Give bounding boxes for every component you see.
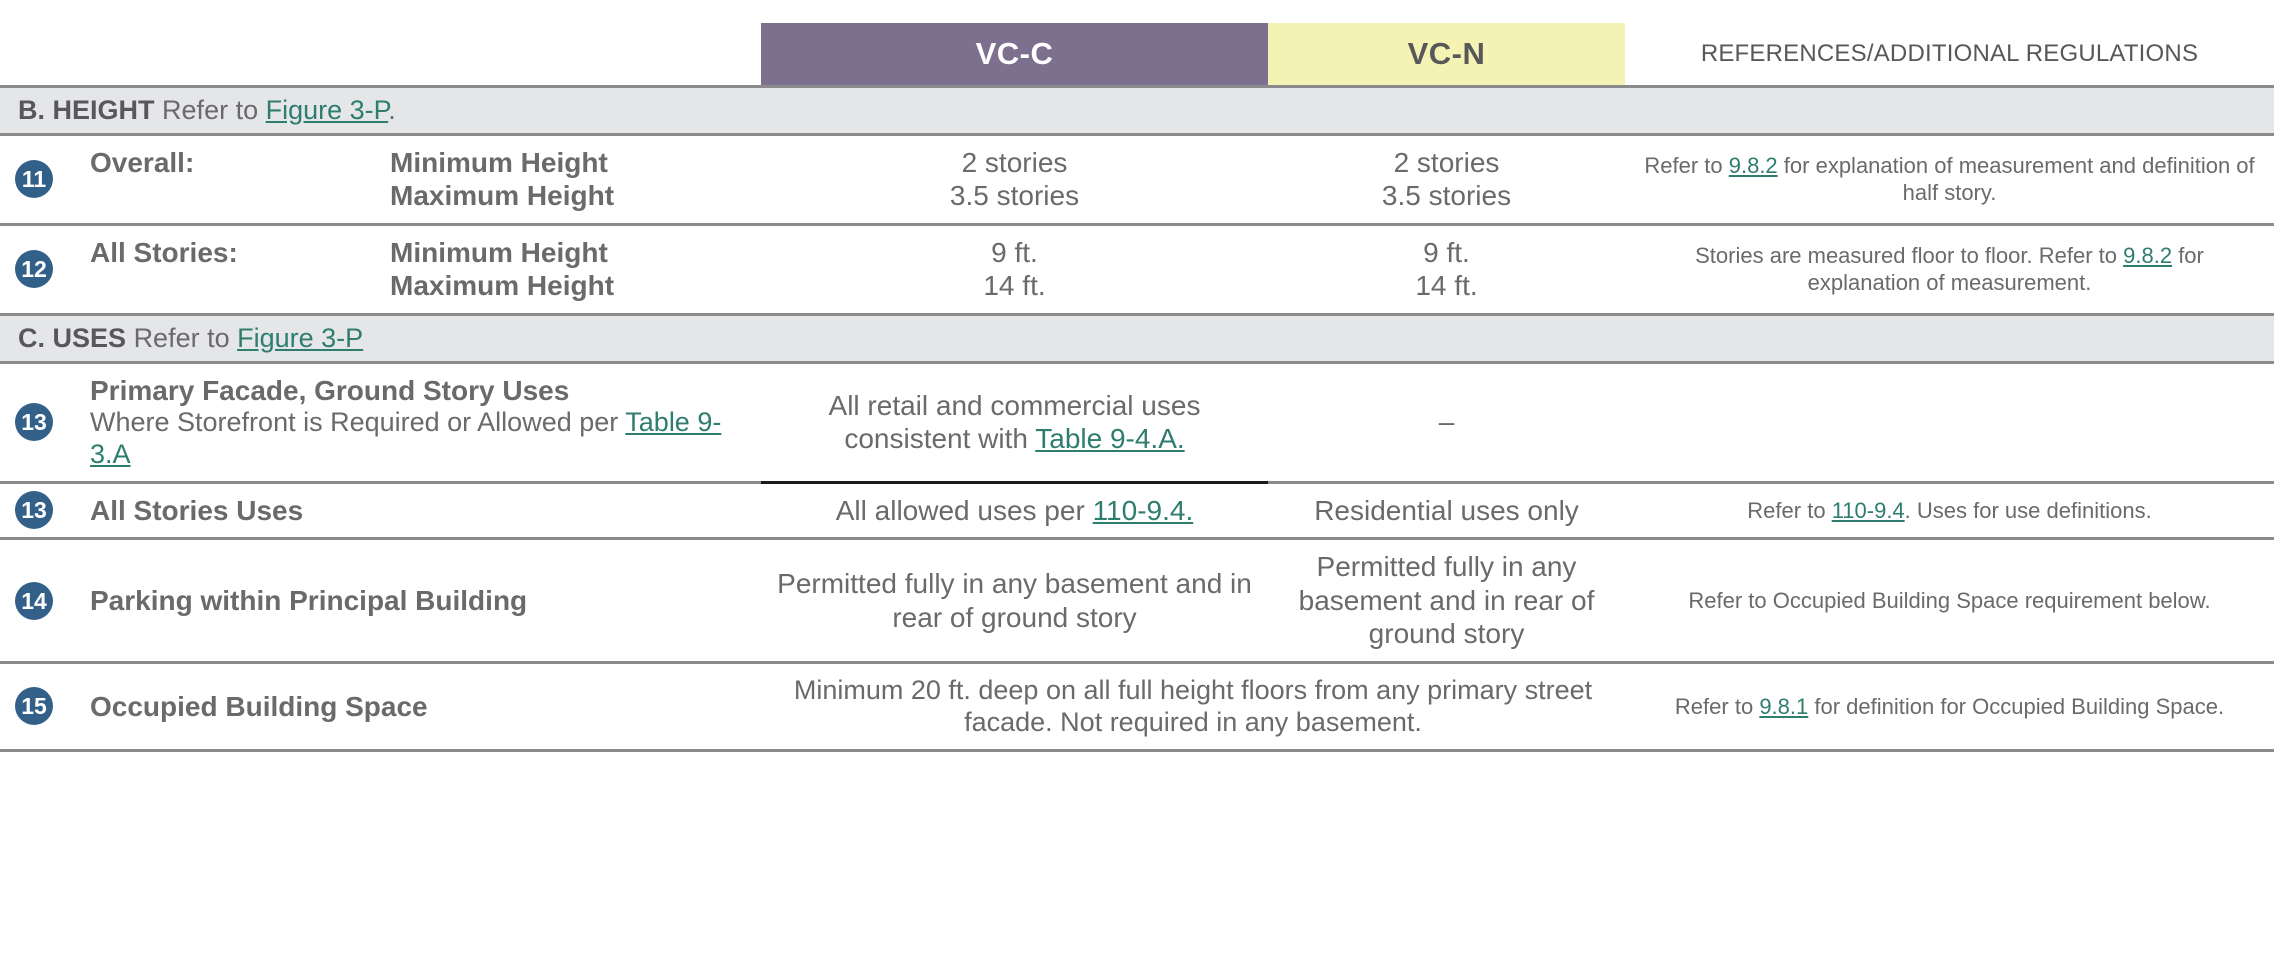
column-header-vcn: VC-N [1268, 0, 1625, 86]
reference-overall: Refer to 9.8.2 for explanation of measur… [1625, 134, 2274, 224]
reference-link-110-94[interactable]: 110-9.4 [1832, 498, 1905, 523]
row-badge-12: 12 [0, 224, 68, 314]
value-merged-occupied-building-space: Minimum 20 ft. deep on all full height f… [761, 663, 1625, 751]
row-badge-13-all-stories-uses: 13 [0, 482, 68, 539]
reference-link-982[interactable]: 9.8.2 [2123, 243, 2172, 268]
reference-all-stories-uses: Refer to 110-9.4. Uses for use definitio… [1625, 482, 2274, 539]
section-title: USES [53, 323, 127, 353]
row-label-all-stories-uses: All Stories Uses [68, 482, 761, 539]
value-vcc-maximum: 14 ft. [769, 269, 1260, 303]
row-label-primary-facade: Primary Facade, Ground Story Uses Where … [68, 362, 761, 482]
column-header-references-label: REFERENCES/ADDITIONAL REGULATIONS [1625, 23, 2274, 85]
row-label-text: All Stories Uses [90, 494, 761, 527]
table-row-occupied-building-space: 15 Occupied Building Space Minimum 20 ft… [0, 663, 2274, 751]
row-label-overall: Overall: Minimum Height Maximum Height [68, 134, 761, 224]
row-label-parking: Parking within Principal Building [68, 539, 761, 663]
header-spacer-badge [0, 0, 68, 86]
section-header-height-cell: B. HEIGHT Refer to Figure 3-P. [0, 86, 2274, 134]
table-row-overall: 11 Overall: Minimum Height Maximum Heigh… [0, 134, 2274, 224]
value-vcc-link-table-9-4a[interactable]: Table 9-4.A. [1035, 423, 1184, 454]
reference-suffix: for definition for Occupied Building Spa… [1814, 694, 2224, 719]
value-vcn-dash: – [1439, 406, 1455, 437]
value-vcn-maximum: 14 ft. [1276, 269, 1617, 303]
value-vcc-overall: 2 stories 3.5 stories [761, 134, 1268, 224]
value-vcn-all-stories-uses: Residential uses only [1268, 482, 1625, 539]
row-sublabel-maximum-height: Maximum Height [390, 179, 761, 212]
value-vcn-primary-facade: – [1268, 362, 1625, 482]
section-refer-text: Refer to [162, 95, 258, 125]
reference-primary-facade [1625, 362, 2274, 482]
value-vcc-all-stories-uses: All allowed uses per 110-9.4. [761, 482, 1268, 539]
reference-suffix: . Uses for use definitions. [1905, 498, 2152, 523]
column-header-vcc-label: VC-C [761, 23, 1268, 85]
reference-parking: Refer to Occupied Building Space require… [1625, 539, 2274, 663]
row-label-all-stories: All Stories: Minimum Height Maximum Heig… [68, 224, 761, 314]
row-sublabel-minimum-height: Minimum Height [390, 146, 761, 179]
value-vcc-parking: Permitted fully in any basement and in r… [761, 539, 1268, 663]
value-vcc-prefix: All allowed uses per [836, 495, 1085, 526]
table-row-all-stories-uses: 13 All Stories Uses All allowed uses per… [0, 482, 2274, 539]
value-vcc-link-110-94[interactable]: 110-9.4. [1093, 495, 1194, 526]
row-sublabel-minimum-height: Minimum Height [390, 236, 761, 269]
reference-occupied-building-space: Refer to 9.8.1 for definition for Occupi… [1625, 663, 2274, 751]
reference-prefix: Refer to [1675, 694, 1753, 719]
section-title: HEIGHT [53, 95, 155, 125]
row-number-badge: 13 [15, 491, 53, 529]
column-header-vcn-label: VC-N [1268, 23, 1625, 85]
row-badge-14: 14 [0, 539, 68, 663]
zoning-standards-table: VC-C VC-N REFERENCES/ADDITIONAL REGULATI… [0, 0, 2274, 973]
row-badge-13-primary-facade: 13 [0, 362, 68, 482]
row-badge-15: 15 [0, 663, 68, 751]
value-vcc-all-stories: 9 ft. 14 ft. [761, 224, 1268, 314]
value-vcc-minimum: 2 stories [769, 146, 1260, 180]
section-letter: B. [18, 95, 45, 125]
reference-prefix: Refer to [1747, 498, 1825, 523]
row-number-badge: 12 [15, 250, 53, 288]
column-header-references: REFERENCES/ADDITIONAL REGULATIONS [1625, 0, 2274, 86]
section-header-uses: C. USES Refer to Figure 3-P [0, 314, 2274, 362]
table-header-row: VC-C VC-N REFERENCES/ADDITIONAL REGULATI… [0, 0, 2274, 86]
reference-prefix: Refer to [1644, 153, 1722, 178]
reference-link-981[interactable]: 9.8.1 [1759, 694, 1808, 719]
value-vcn-minimum: 2 stories [1276, 146, 1617, 180]
section-letter: C. [18, 323, 45, 353]
row-badge-11: 11 [0, 134, 68, 224]
row-label-text: Parking within Principal Building [90, 584, 761, 617]
reference-link-982[interactable]: 9.8.2 [1729, 153, 1778, 178]
section-link-figure-3p[interactable]: Figure 3-P [237, 323, 363, 353]
column-header-vcc: VC-C [761, 0, 1268, 86]
value-vcn-all-stories: 9 ft. 14 ft. [1268, 224, 1625, 314]
row-number-badge: 11 [15, 160, 53, 198]
value-vcn-maximum: 3.5 stories [1276, 179, 1617, 213]
section-link-figure-3p[interactable]: Figure 3-P [266, 95, 389, 125]
header-spacer-label [68, 0, 761, 86]
value-vcc-primary-facade: All retail and commercial uses consisten… [761, 362, 1268, 482]
reference-suffix: for explanation of measurement and defin… [1784, 153, 2255, 206]
row-label-text: Occupied Building Space [90, 690, 761, 723]
regulations-table: VC-C VC-N REFERENCES/ADDITIONAL REGULATI… [0, 0, 2274, 752]
section-refer-text: Refer to [134, 323, 230, 353]
row-number-badge: 14 [15, 582, 53, 620]
value-vcn-overall: 2 stories 3.5 stories [1268, 134, 1625, 224]
value-vcc-minimum: 9 ft. [769, 236, 1260, 270]
row-label-occupied-building-space: Occupied Building Space [68, 663, 761, 751]
row-label-text: Overall: [90, 146, 390, 179]
table-row-primary-facade: 13 Primary Facade, Ground Story Uses Whe… [0, 362, 2274, 482]
section-trailing-punct: . [388, 95, 396, 125]
reference-prefix: Stories are measured floor to floor. Ref… [1695, 243, 2117, 268]
row-number-badge: 13 [15, 403, 53, 441]
table-row-all-stories: 12 All Stories: Minimum Height Maximum H… [0, 224, 2274, 314]
row-sublabel-storefront: Where Storefront is Required or Allowed … [90, 407, 761, 471]
table-row-parking: 14 Parking within Principal Building Per… [0, 539, 2274, 663]
value-vcc-maximum: 3.5 stories [769, 179, 1260, 213]
row-sublabel-maximum-height: Maximum Height [390, 269, 761, 302]
row-sublabel-prefix: Where Storefront is Required or Allowed … [90, 407, 618, 437]
section-header-uses-cell: C. USES Refer to Figure 3-P [0, 314, 2274, 362]
reference-all-stories: Stories are measured floor to floor. Ref… [1625, 224, 2274, 314]
section-header-height: B. HEIGHT Refer to Figure 3-P. [0, 86, 2274, 134]
row-label-text: Primary Facade, Ground Story Uses [90, 374, 761, 407]
value-vcn-parking: Permitted fully in any basement and in r… [1268, 539, 1625, 663]
value-vcn-minimum: 9 ft. [1276, 236, 1617, 270]
row-number-badge: 15 [15, 687, 53, 725]
row-label-text: All Stories: [90, 236, 390, 269]
